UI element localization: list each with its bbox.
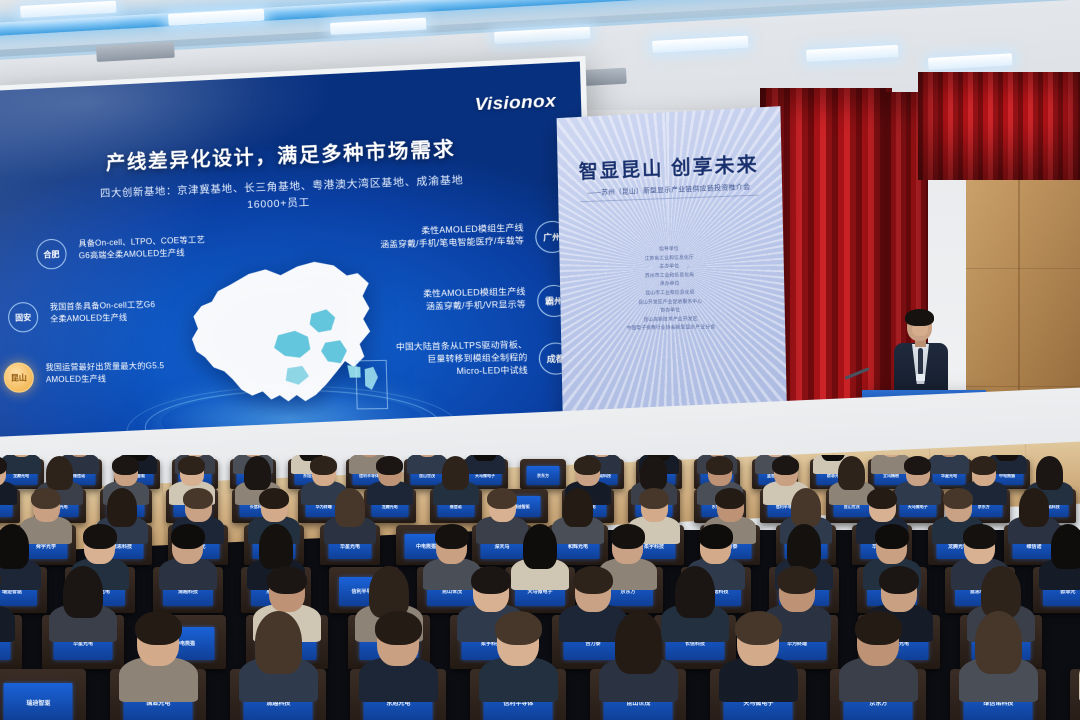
audience-member-hair bbox=[487, 488, 517, 509]
stage-curtain-valance bbox=[918, 72, 1080, 180]
audience-member-hair bbox=[46, 456, 73, 490]
slide-subtitle: 四大创新基地：京津冀基地、长三角基地、粤港澳大湾区基地、成渝基地 16000+员… bbox=[0, 169, 584, 223]
visionox-logo: Visionox bbox=[474, 91, 556, 116]
audience-member-hair bbox=[335, 488, 365, 527]
audience-member-hair bbox=[875, 524, 910, 548]
map-node-guan[interactable]: 固安 bbox=[8, 302, 39, 333]
audience-member-hair bbox=[473, 455, 497, 461]
audience-member-hair bbox=[715, 488, 745, 509]
callout-guan: 我国首条具备On-cell工艺G6 全柔AMOLED生产线 bbox=[50, 298, 215, 326]
audience-seat[interactable]: 京东方 bbox=[520, 459, 566, 489]
audience-member-shoulders bbox=[1, 455, 41, 474]
callout-guangzhou: 柔性AMOLED模组生产线 涵盖穿戴/手机/笔电智能医疗/车载等 bbox=[326, 222, 524, 253]
audience-member-hair bbox=[183, 488, 213, 509]
audience-member-hair bbox=[735, 611, 782, 645]
audience-member-hair bbox=[879, 566, 919, 595]
organizer-list: 指导单位 江苏省工业和信息化厅 主办单位 苏州市工业和信息化局 承办单位 昆山市… bbox=[559, 242, 785, 334]
audience-member-hair bbox=[244, 456, 271, 490]
map-node-hefei-label: 合肥 bbox=[43, 249, 59, 259]
audience-member-hair bbox=[706, 456, 733, 474]
audience-member-hair bbox=[267, 566, 307, 595]
audience-member-hair bbox=[970, 456, 997, 474]
audience-member-hair bbox=[171, 524, 206, 548]
audience-member-hair bbox=[611, 524, 646, 548]
audience-member-hair bbox=[63, 566, 103, 619]
audience-member-hair bbox=[791, 488, 821, 527]
audience-member-hair bbox=[563, 488, 593, 527]
secondary-projection-screen: 智显昆山 创享未来 ——苏州（昆山）新型显示产业链供应链投资推介会 指导单位 江… bbox=[557, 106, 788, 450]
audience-member-hair bbox=[259, 488, 289, 509]
audience-member-hair bbox=[471, 566, 511, 595]
audience-member-hair bbox=[855, 611, 902, 645]
audience-member-hair bbox=[310, 456, 337, 474]
audience-member-hair bbox=[135, 611, 182, 645]
audience-member-hair bbox=[495, 611, 542, 645]
audience-member-hair bbox=[442, 456, 469, 490]
audience-member-hair bbox=[615, 611, 662, 674]
audience-member-shoulders bbox=[929, 455, 969, 474]
audience-member-hair bbox=[573, 566, 613, 595]
audience-member-hair bbox=[255, 611, 302, 674]
audience-member-hair bbox=[1051, 524, 1080, 569]
audience-member-hair bbox=[640, 456, 667, 490]
map-node-guan-label: 固安 bbox=[15, 313, 31, 322]
audience-member-hair bbox=[639, 488, 669, 509]
audience-member-hair bbox=[772, 456, 799, 474]
callout-hefei: 具备On-cell、LTPO、COE等工艺 G6高端全柔AMOLED生产线 bbox=[78, 233, 244, 263]
audience-member-hair bbox=[112, 456, 139, 474]
audience-seat[interactable]: 瑞迪智驱 bbox=[0, 669, 86, 720]
presentation-slide: Visionox 产线差异化设计，满足多种市场需求 四大创新基地：京津冀基地、长… bbox=[0, 62, 591, 453]
conference-hall-photo: Visionox 产线差异化设计，满足多种市场需求 四大创新基地：京津冀基地、长… bbox=[0, 0, 1080, 720]
audience-member-hair bbox=[675, 566, 715, 619]
callout-bazhou: 柔性AMOLED模组生产线 涵盖穿戴/手机/VR显示等 bbox=[339, 286, 527, 316]
audience-member-hair bbox=[107, 488, 137, 527]
map-node-kunshan-label: 昆山 bbox=[11, 373, 27, 382]
organizer-item: 中国电子视像行业协会新型显示产业分会 bbox=[561, 322, 785, 334]
audience-member-hair bbox=[1036, 456, 1063, 490]
audience-member-shoulders bbox=[407, 455, 447, 474]
audience-member-hair bbox=[787, 524, 822, 569]
audience-member-hair bbox=[995, 455, 1019, 461]
seat-name-plate: 京东方 bbox=[527, 466, 560, 485]
callout-kunshan: 我国运营最好出货量最大的G5.5 AMOLED生产线 bbox=[45, 359, 220, 386]
audience-member-hair bbox=[375, 611, 422, 645]
map-node-hefei[interactable]: 合肥 bbox=[36, 239, 67, 270]
audience-member-hair bbox=[31, 488, 61, 509]
audience-member-hair bbox=[523, 524, 558, 569]
audience-member-hair bbox=[0, 524, 29, 569]
audience-area: 华为终端龙腾光电维信诺瑞迪智驱国显光电清越科技东旭光电信利半导体昆山世茂天马微电… bbox=[0, 455, 1080, 720]
speaker-hair bbox=[905, 309, 934, 326]
audience-member-hair bbox=[699, 524, 734, 548]
audience-member-hair bbox=[867, 488, 897, 509]
audience-member-hair bbox=[777, 566, 817, 595]
audience-member-hair bbox=[975, 611, 1022, 674]
seat-name-plate: 瑞迪智驱 bbox=[4, 683, 73, 720]
audience-member-hair bbox=[376, 456, 403, 474]
audience-member-hair bbox=[574, 456, 601, 474]
map-node-kunshan[interactable]: 昆山 bbox=[3, 362, 34, 393]
audience-member-hair bbox=[435, 524, 470, 548]
audience-member-hair bbox=[83, 524, 118, 548]
speaker-badge bbox=[916, 374, 925, 381]
speaker-lanyard bbox=[918, 348, 923, 375]
audience-member-hair bbox=[259, 524, 294, 569]
audience-member-hair bbox=[178, 456, 205, 474]
audience-member-hair bbox=[904, 456, 931, 474]
audience-member-hair bbox=[943, 488, 973, 509]
audience-member-hair bbox=[963, 524, 998, 548]
audience-member-hair bbox=[838, 456, 865, 490]
audience-member-hair bbox=[1019, 488, 1049, 527]
callout-chengdu: 中国大陆首条从LTPS驱动背板、 巨量转移到模组全制程的 Micro-LED中试… bbox=[338, 339, 528, 380]
audience-member-shoulders bbox=[0, 481, 17, 505]
main-projection-screen: Visionox 产线差异化设计，满足多种市场需求 四大创新基地：京津冀基地、长… bbox=[0, 56, 597, 458]
